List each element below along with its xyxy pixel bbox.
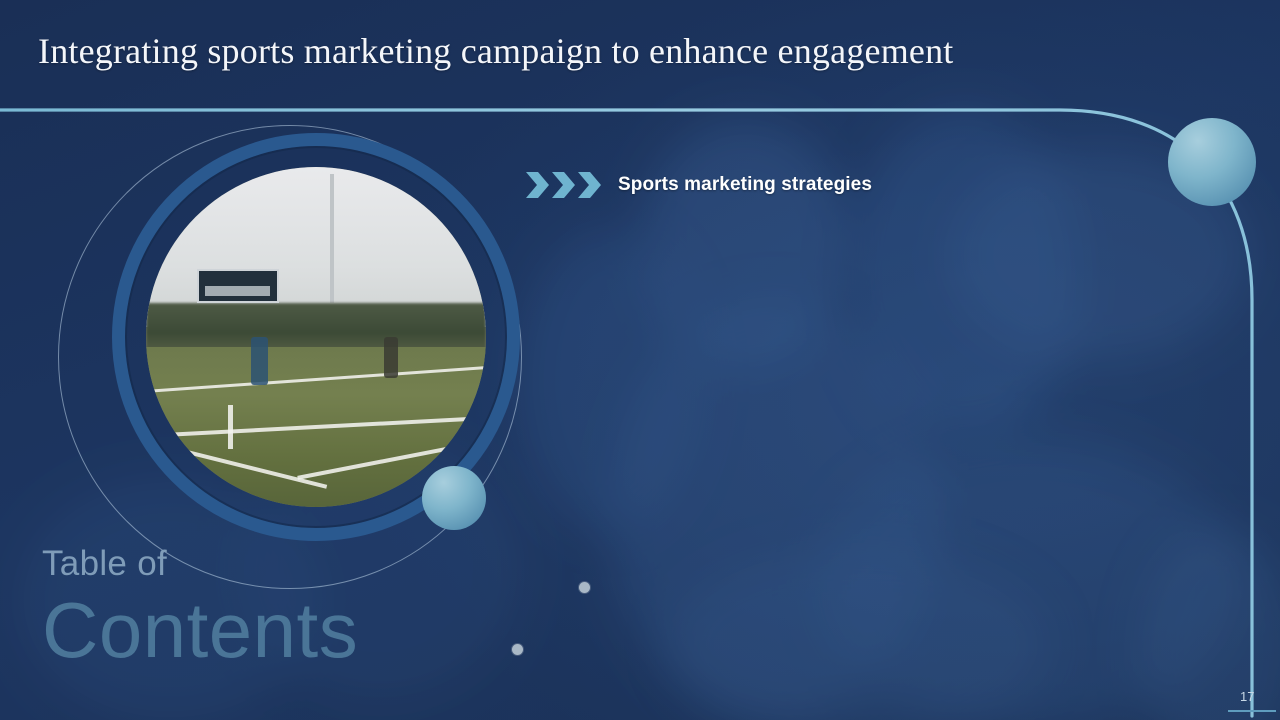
accent-sphere-top-right [1168,118,1256,206]
table-of-contents-block: Table of Contents [42,546,358,669]
toc-label-small: Table of [42,546,358,581]
ring-dot-upper [579,582,590,593]
photo-background-player [251,337,268,385]
chevron-group [524,168,602,202]
photo-scoreboard [197,269,279,303]
page-number-underline [1228,710,1276,712]
page-number-wrap: 17 [1240,690,1254,703]
photo-field-line [228,405,233,449]
section-heading: Sports marketing strategies [618,174,872,196]
photo-background-player [384,337,398,378]
double-chevron-right-icon [524,168,602,202]
page-number: 17 [1240,690,1254,703]
accent-sphere-mid [422,466,486,530]
photo-floodlight-pole [330,174,334,303]
toc-label-large: Contents [42,591,358,669]
soccer-photo: 32 [146,167,486,507]
ring-dot-lower [512,644,523,655]
slide-canvas: Integrating sports marketing campaign to… [0,0,1280,720]
